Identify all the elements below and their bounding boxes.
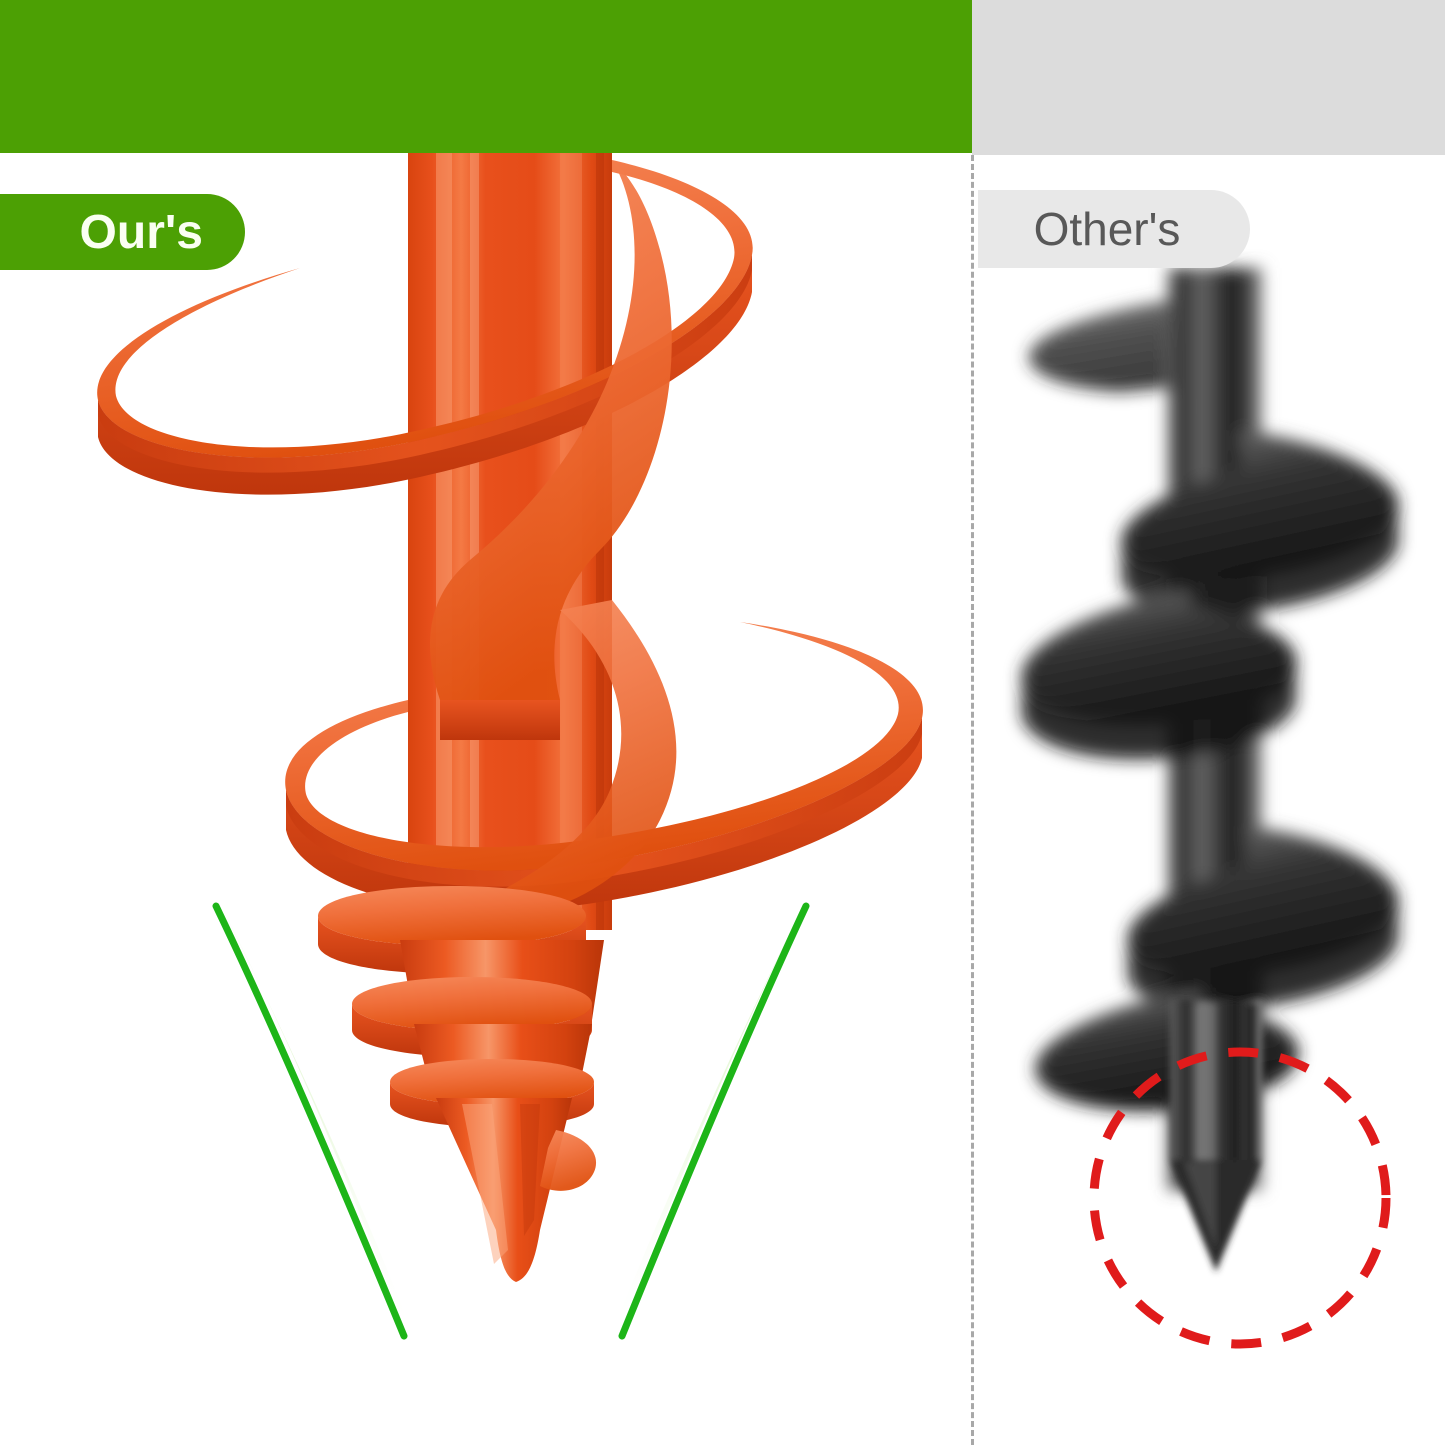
badge-others: Other's xyxy=(978,190,1250,268)
traditional-auger-tip xyxy=(1170,1000,1262,1272)
comparison-infographic: Spiral drill bit, easy to drill in Trabi… xyxy=(0,0,1445,1445)
vertical-dashed-divider xyxy=(971,155,974,1445)
right-header-bar xyxy=(972,0,1445,155)
badge-ours: Our's xyxy=(0,194,245,270)
orange-auger xyxy=(97,150,923,1282)
left-header-bar xyxy=(0,0,972,153)
